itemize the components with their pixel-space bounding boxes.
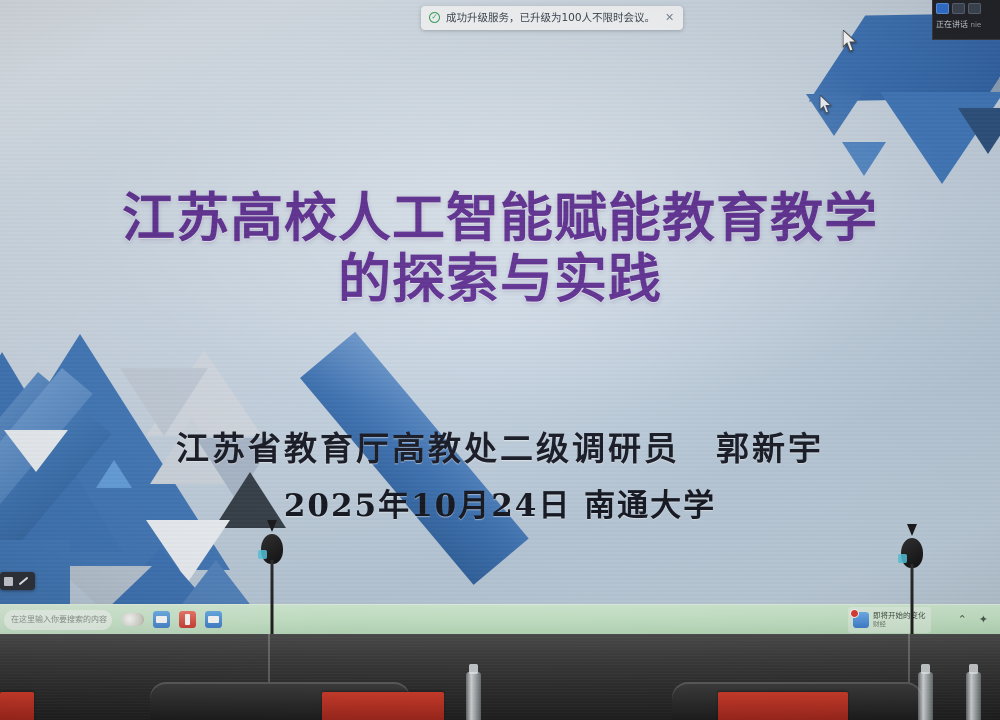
nameplate-3 (718, 692, 848, 720)
meeting-speaking-status: 正在讲话 nie (933, 17, 1000, 32)
close-icon[interactable]: ✕ (665, 11, 674, 24)
slide-title-line-1: 江苏高校人工智能赋能教育教学 (0, 188, 1000, 249)
water-bottle-1 (466, 672, 481, 720)
mic-button[interactable] (936, 3, 949, 14)
pen-tool-icon[interactable] (19, 577, 29, 586)
speaking-label: 正在讲话 (936, 20, 968, 29)
meeting-toolbar[interactable] (933, 0, 1000, 17)
network-icon[interactable]: ✦ (979, 613, 988, 626)
camera-button[interactable] (952, 3, 965, 14)
chevron-up-icon[interactable]: ⌃ (958, 613, 967, 626)
upgrade-toast[interactable]: ✓ 成功升级服务，已升级为100人不限时会议。 ✕ (421, 6, 683, 30)
cortana-icon[interactable] (122, 613, 144, 626)
slide-date-venue: 2025年10月24日 南通大学 (0, 480, 1000, 525)
decorative-triangle-tr-mid (806, 94, 862, 136)
app-blue-icon[interactable] (153, 611, 170, 628)
nameplate-1 (0, 692, 34, 720)
mic-tip (267, 520, 277, 532)
toast-message: 成功升级服务，已升级为100人不限时会议。 (446, 10, 655, 25)
select-tool-icon[interactable] (4, 577, 13, 586)
taskbar-tray[interactable]: ⌃ ✦ (958, 613, 1000, 626)
slide-title: 江苏高校人工智能赋能教育教学 的探索与实践 (0, 188, 1000, 311)
decorative-triangle-tr-dark (958, 108, 1000, 154)
mic-tip (907, 524, 917, 536)
share-button[interactable] (968, 3, 981, 14)
meeting-mini-panel[interactable]: 正在讲话 nie (932, 0, 1000, 40)
slide-title-line-2: 的探索与实践 (0, 249, 1000, 310)
water-bottle-3 (966, 672, 981, 720)
news-badge (850, 609, 859, 618)
news-icon (853, 612, 869, 628)
mic-led (258, 550, 267, 559)
app-red-icon[interactable] (179, 611, 196, 628)
speaker-name: nie (971, 21, 982, 29)
water-bottle-2 (918, 672, 933, 720)
annotation-toolbar[interactable] (0, 572, 35, 590)
projection-screen: 江苏高校人工智能赋能教育教学 的探索与实践 江苏省教育厅高教处二级调研员 郭新宇… (0, 0, 1000, 612)
slide-presenter: 江苏省教育厅高教处二级调研员 郭新宇 (0, 422, 1000, 470)
mic-led (898, 554, 907, 563)
nameplate-2 (322, 692, 444, 720)
windows-taskbar[interactable]: 在这里输入你要搜索的内容 即将开始的变化 财经 ⌃ ✦ (0, 604, 1000, 634)
decorative-triangle-tr-small (842, 142, 886, 176)
conference-room-photo: 江苏高校人工智能赋能教育教学 的探索与实践 江苏省教育厅高教处二级调研员 郭新宇… (0, 0, 1000, 720)
taskbar-icons[interactable] (122, 611, 222, 628)
conference-table-foreground (0, 634, 1000, 720)
check-circle-icon: ✓ (429, 12, 440, 23)
taskbar-search-input[interactable]: 在这里输入你要搜索的内容 (4, 610, 112, 630)
app-blue2-icon[interactable] (205, 611, 222, 628)
